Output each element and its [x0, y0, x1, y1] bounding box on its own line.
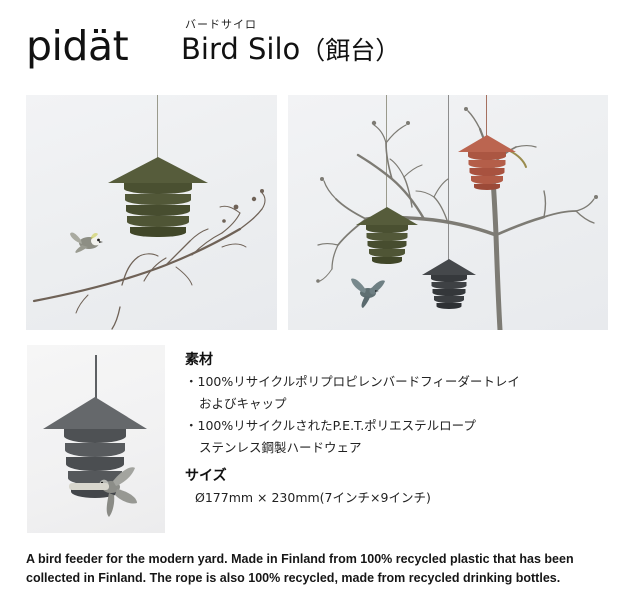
feeding-bird — [87, 463, 145, 519]
material-item-line: およびキャップ — [185, 393, 605, 415]
green-bird-silo — [356, 207, 418, 263]
material-item: ・100%リサイクルされたP.E.T.ポリエステルロープ ステンレス鋼製ハードウ… — [185, 415, 605, 459]
silo-cap-icon — [458, 135, 516, 152]
silo-cap-icon — [422, 259, 476, 275]
hanging-cord — [95, 355, 97, 403]
material-item-line: ステンレス鋼製ハードウェア — [185, 437, 605, 459]
page-header: pidät バードサイロ Bird Silo（餌台） — [26, 18, 608, 80]
terracotta-bird-silo — [458, 135, 516, 189]
silo-ring — [64, 429, 126, 443]
silo-ring — [372, 257, 402, 264]
silo-ring — [369, 249, 405, 257]
silo-ring — [469, 160, 506, 168]
silo-ring — [366, 225, 408, 233]
material-item-line: ・100%リサイクルポリプロピレンバードフィーダートレイ — [185, 374, 520, 389]
product-title-block: バードサイロ Bird Silo（餌台） — [181, 18, 400, 69]
branch-illustration — [26, 95, 277, 330]
specifications: 素材 ・100%リサイクルポリプロピレンバードフィーダートレイ およびキャップ … — [185, 349, 605, 509]
silo-ring — [368, 241, 407, 249]
silo-ring — [433, 289, 466, 296]
silo-ring — [431, 275, 467, 282]
material-item: ・100%リサイクルポリプロピレンバードフィーダートレイ およびキャップ — [185, 371, 605, 415]
product-photo-green-silo — [26, 95, 277, 330]
product-title-japanese: （餌台） — [300, 36, 400, 65]
product-photo-detail — [27, 345, 165, 533]
silo-ring — [468, 152, 506, 160]
seed-pile — [69, 483, 109, 490]
flying-bird — [69, 228, 105, 254]
product-title-latin: Bird Silo — [181, 32, 300, 66]
silo-ring — [471, 176, 503, 184]
page-title: Bird Silo（餌台） — [181, 31, 400, 69]
silo-ring — [367, 233, 408, 241]
silo-ring — [432, 282, 467, 289]
charcoal-bird-silo — [422, 259, 476, 309]
size-heading: サイズ — [185, 465, 605, 487]
silo-cap-icon — [356, 207, 418, 225]
size-value: Ø177mm × 230mm(7インチ×9インチ) — [185, 487, 605, 509]
silo-cap-icon — [43, 397, 147, 429]
description-line: A bird feeder for the modern yard. Made … — [26, 550, 614, 569]
brand-logo: pidät — [26, 26, 128, 67]
description-line: collected in Finland. The rope is also 1… — [26, 569, 614, 588]
flying-bird — [348, 273, 388, 309]
material-item-line: ・100%リサイクルされたP.E.T.ポリエステルロープ — [185, 418, 476, 433]
product-description: A bird feeder for the modern yard. Made … — [26, 550, 614, 588]
product-title-ruby: バードサイロ — [185, 18, 400, 31]
silo-ring — [65, 443, 125, 457]
silo-ring — [474, 184, 500, 190]
product-photo-three-silos — [288, 95, 608, 330]
silo-ring — [437, 303, 462, 309]
silo-ring — [470, 168, 505, 176]
silo-ring — [434, 296, 464, 303]
material-heading: 素材 — [185, 349, 605, 371]
